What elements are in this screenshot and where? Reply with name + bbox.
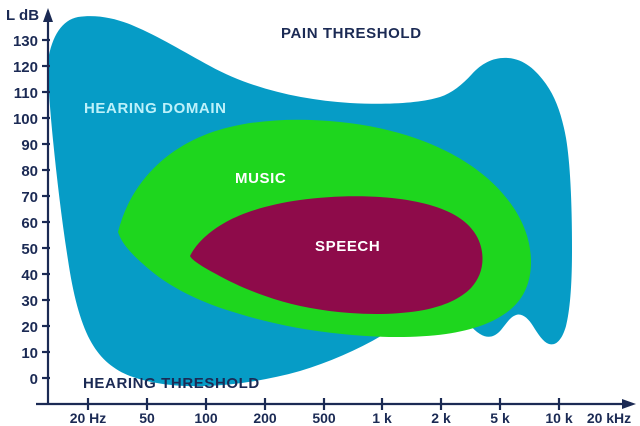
x-tick-label: 20 kHz — [587, 410, 631, 426]
y-tick-label: 90 — [21, 137, 38, 154]
hearing-domain-chart: L dB 130 120 110 100 90 80 70 60 50 40 3… — [0, 0, 640, 426]
x-axis-arrow — [622, 399, 636, 409]
x-tick-label: 20 Hz — [70, 410, 107, 426]
y-tick-label: 20 — [21, 319, 38, 336]
x-tick-label: 100 — [194, 410, 218, 426]
y-tick-label: 120 — [13, 59, 38, 76]
y-tick-label: 110 — [14, 85, 38, 102]
chart-canvas: L dB 130 120 110 100 90 80 70 60 50 40 3… — [0, 0, 640, 426]
pain-threshold-label: PAIN THRESHOLD — [281, 25, 422, 42]
y-tick-label: 60 — [21, 215, 38, 232]
x-tick-label: 10 k — [545, 410, 572, 426]
y-tick-label: 70 — [21, 189, 38, 206]
music-label: MUSIC — [235, 170, 286, 187]
y-tick-label: 40 — [21, 267, 38, 284]
y-tick-label: 50 — [21, 241, 38, 258]
x-tick-label: 200 — [253, 410, 277, 426]
hearing-threshold-label: HEARING THRESHOLD — [83, 375, 260, 392]
y-tick-label: 30 — [21, 293, 38, 310]
x-tick-label: 500 — [312, 410, 336, 426]
x-tick-label: 50 — [139, 410, 155, 426]
y-tick-label: 100 — [13, 111, 38, 128]
speech-label: SPEECH — [315, 238, 380, 255]
x-tick-label: 5 k — [490, 410, 510, 426]
y-axis-title: L dB — [6, 7, 39, 24]
y-tick-label: 10 — [21, 345, 38, 362]
x-tick-label: 1 k — [372, 410, 392, 426]
hearing-domain-label: HEARING DOMAIN — [84, 100, 227, 117]
y-tick-label: 130 — [13, 33, 38, 50]
x-tick-label: 2 k — [431, 410, 451, 426]
y-axis-arrow — [43, 8, 53, 22]
y-tick-label: 0 — [30, 371, 38, 388]
y-tick-label: 80 — [21, 163, 38, 180]
